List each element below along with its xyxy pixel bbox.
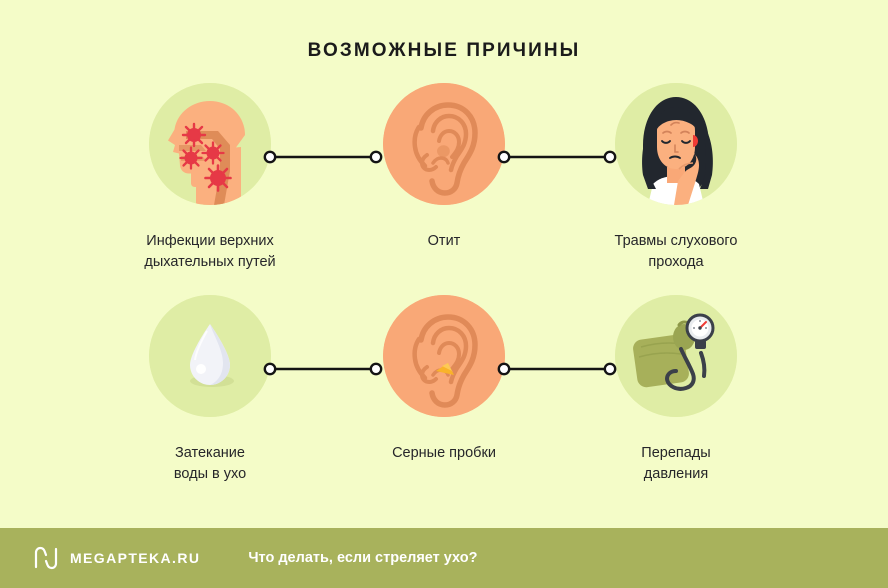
footer-tagline: Что делать, если стреляет ухо? xyxy=(248,550,477,566)
woman-ear-pain-icon xyxy=(615,83,737,205)
cause-item-otitis[interactable]: Отит xyxy=(326,83,562,252)
infographic-canvas: ВОЗМОЖНЫЕ ПРИЧИНЫ xyxy=(0,0,888,588)
cause-label: Затекание воды в ухо xyxy=(92,443,328,485)
cause-label: Отит xyxy=(326,231,562,252)
ear-icon xyxy=(383,83,505,205)
brand-name[interactable]: MEGAPTEKA.RU xyxy=(70,550,200,566)
connector-line-3 xyxy=(263,362,383,376)
cause-row-bottom: Затекание воды в ухо xyxy=(0,295,888,525)
connector-line-1 xyxy=(263,150,383,164)
megapteka-m-logo-icon xyxy=(33,545,59,571)
head-respiratory-infection-icon xyxy=(149,83,271,205)
blood-pressure-cuff-icon xyxy=(615,295,737,417)
cause-label: Серные пробки xyxy=(326,443,562,464)
ear-wax-plug-icon xyxy=(383,295,505,417)
connector-line-4 xyxy=(497,362,617,376)
cause-row-top: Инфекции верхних дыхательных путей xyxy=(0,83,888,313)
page-title: ВОЗМОЖНЫЕ ПРИЧИНЫ xyxy=(0,39,888,63)
cause-label: Перепады давления xyxy=(558,443,794,485)
cause-item-water-in-ear[interactable]: Затекание воды в ухо xyxy=(92,295,328,485)
water-droplet-icon xyxy=(149,295,271,417)
cause-item-ear-wax-plugs[interactable]: Серные пробки xyxy=(326,295,562,464)
cause-item-pressure-changes[interactable]: Перепады давления xyxy=(558,295,794,485)
cause-label: Травмы слухового прохода xyxy=(558,231,794,273)
cause-item-upper-respiratory-infections[interactable]: Инфекции верхних дыхательных путей xyxy=(92,83,328,273)
footer-bar: MEGAPTEKA.RU Что делать, если стреляет у… xyxy=(0,528,888,588)
cause-item-ear-canal-trauma[interactable]: Травмы слухового прохода xyxy=(558,83,794,273)
cause-label: Инфекции верхних дыхательных путей xyxy=(92,231,328,273)
connector-line-2 xyxy=(497,150,617,164)
